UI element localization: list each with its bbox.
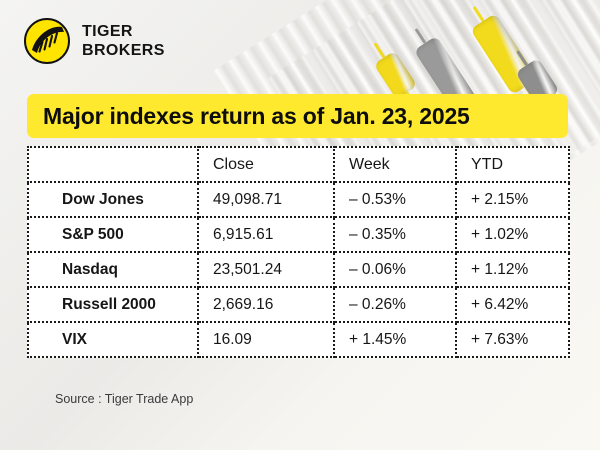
row-close-value: 2,669.16 [198,287,334,322]
row-ytd-change: + 7.63% [456,322,569,357]
row-ytd-change: + 1.12% [456,252,569,287]
column-header-close: Close [198,147,334,182]
row-week-change: – 0.35% [334,217,456,252]
row-week-change: – 0.06% [334,252,456,287]
brand-name-line2: BROKERS [82,41,165,60]
table-row: VIX16.09+ 1.45%+ 7.63% [28,322,569,357]
column-header-index [28,147,198,182]
row-index-name: Russell 2000 [28,287,198,322]
candle-wick-top [374,42,386,58]
brand-name-line1: TIGER [82,22,165,41]
table-header-row: Close Week YTD [28,147,569,182]
column-header-ytd: YTD [456,147,569,182]
infographic-canvas: TIGER BROKERS Major indexes return as of… [0,0,600,450]
row-ytd-change: + 1.02% [456,217,569,252]
table-row: Russell 20002,669.16– 0.26%+ 6.42% [28,287,569,322]
brand-logo: TIGER BROKERS [24,18,165,64]
page-title: Major indexes return as of Jan. 23, 2025 [27,103,470,130]
source-note: Source : Tiger Trade App [55,392,193,406]
candle-wick-top [472,6,484,22]
row-close-value: 16.09 [198,322,334,357]
row-week-change: + 1.45% [334,322,456,357]
row-index-name: S&P 500 [28,217,198,252]
row-week-change: – 0.26% [334,287,456,322]
candle-wick-top [516,50,528,66]
row-index-name: Dow Jones [28,182,198,217]
row-index-name: Nasdaq [28,252,198,287]
table-row: Nasdaq23,501.24– 0.06%+ 1.12% [28,252,569,287]
table-row: Dow Jones49,098.71– 0.53%+ 2.15% [28,182,569,217]
candle-wick-top [415,28,427,44]
title-banner: Major indexes return as of Jan. 23, 2025 [27,94,568,138]
indexes-table: Close Week YTD Dow Jones49,098.71– 0.53%… [27,146,570,358]
row-close-value: 23,501.24 [198,252,334,287]
row-index-name: VIX [28,322,198,357]
candle-body [374,51,418,100]
row-week-change: – 0.53% [334,182,456,217]
tiger-head-circle-icon [24,18,70,64]
table-row: S&P 5006,915.61– 0.35%+ 1.02% [28,217,569,252]
column-header-week: Week [334,147,456,182]
brand-name: TIGER BROKERS [82,22,165,60]
row-close-value: 49,098.71 [198,182,334,217]
row-ytd-change: + 2.15% [456,182,569,217]
row-close-value: 6,915.61 [198,217,334,252]
row-ytd-change: + 6.42% [456,287,569,322]
